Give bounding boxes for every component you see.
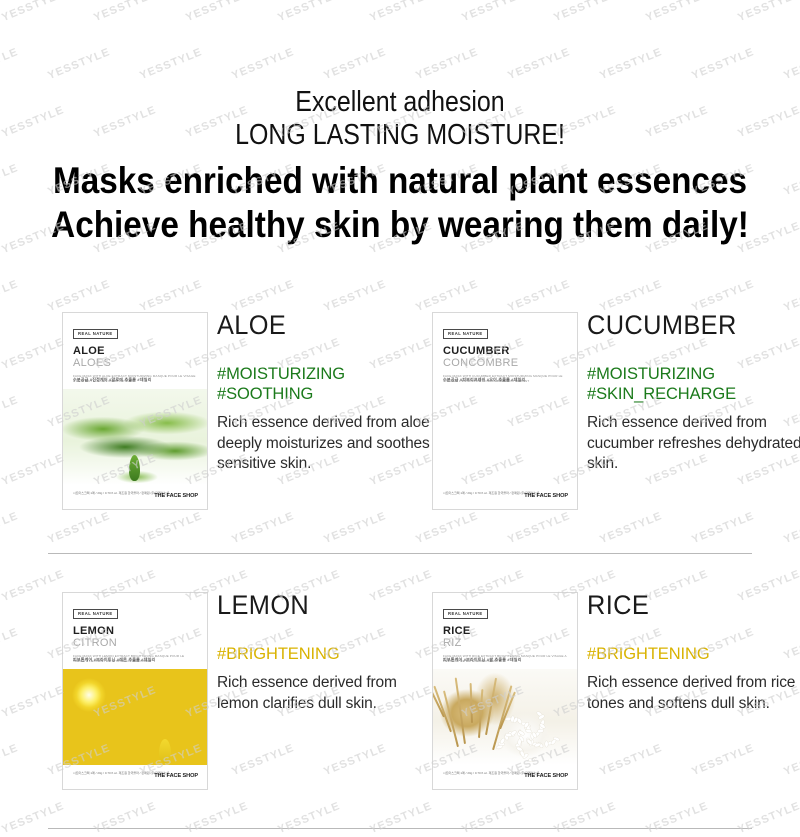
product-description: Rich essence derived from aloe deeply mo… bbox=[217, 413, 432, 475]
header-line-3: Masks enriched with natural plant essenc… bbox=[40, 159, 760, 203]
product-card-rice: REAL NATURE RICE RIZ FACE MASK WITH RICE… bbox=[432, 592, 800, 797]
watermark-text: YESSTYLE bbox=[552, 0, 618, 24]
rice-grain-shape bbox=[529, 758, 535, 761]
package-name-fr: RIZ bbox=[443, 638, 567, 650]
package-name-fr: CONCOMBRE bbox=[443, 358, 567, 370]
package-photo-cucumber bbox=[433, 389, 577, 485]
watermark-text: YESSTYLE bbox=[230, 46, 296, 82]
product-description: Rich essence derived from lemon clarifie… bbox=[217, 673, 432, 714]
product-tag: #SKIN_RECHARGE bbox=[587, 384, 800, 404]
watermark-text: YESSTYLE bbox=[414, 278, 480, 314]
rice-grain-shape bbox=[538, 729, 544, 732]
product-card-lemon: REAL NATURE LEMON CITRON FACE MASK WITH … bbox=[62, 592, 432, 797]
watermark-text: YESSTYLE bbox=[0, 0, 66, 24]
watermark-text: YESSTYLE bbox=[92, 800, 158, 836]
the-face-shop-logo: THE FACE SHOP bbox=[154, 493, 198, 499]
watermark-text: YESSTYLE bbox=[184, 800, 250, 836]
watermark-text: YESSTYLE bbox=[644, 800, 710, 836]
watermark-text: YESSTYLE bbox=[736, 800, 800, 836]
product-title: RICE bbox=[587, 592, 789, 619]
product-title: LEMON bbox=[217, 592, 419, 619]
product-package-lemon: REAL NATURE LEMON CITRON FACE MASK WITH … bbox=[62, 592, 208, 790]
package-name: CUCUMBER bbox=[443, 346, 567, 358]
watermark-text: YESSTYLE bbox=[506, 46, 572, 82]
section-divider bbox=[48, 553, 752, 554]
watermark-text: YESSTYLE bbox=[276, 800, 342, 836]
package-name-fr: CITRON bbox=[73, 638, 197, 650]
watermark-text: YESSTYLE bbox=[598, 278, 664, 314]
product-tag: #BRIGHTENING bbox=[587, 644, 800, 664]
product-info-aloe: ALOE #MOISTURIZING #SOOTHING Rich essenc… bbox=[217, 312, 432, 475]
watermark-text: YESSTYLE bbox=[0, 626, 20, 662]
package-name: ALOE bbox=[73, 346, 197, 358]
product-description: Rich essence derived from cucumber refre… bbox=[587, 413, 800, 475]
rice-grain-shape bbox=[517, 717, 523, 724]
package-korean-tags: 피부톤케어 #브라이트닝 #쌀 추출물 #데일리 bbox=[443, 657, 521, 663]
rice-stalk-shape bbox=[485, 678, 497, 735]
product-tag: #MOISTURIZING bbox=[217, 364, 432, 384]
package-korean-tags: 수분공급 #진정케어 #알로에 추출물 #데일리 bbox=[73, 377, 151, 383]
watermark-text: YESSTYLE bbox=[506, 278, 572, 314]
watermark-text: YESSTYLE bbox=[368, 800, 434, 836]
real-nature-badge: REAL NATURE bbox=[73, 329, 118, 339]
watermark-text: YESSTYLE bbox=[0, 46, 20, 82]
package-photo-lemon bbox=[63, 669, 207, 765]
lemon-drip-shape bbox=[159, 739, 171, 763]
product-title: CUCUMBER bbox=[587, 312, 789, 339]
watermark-text: YESSTYLE bbox=[0, 278, 20, 314]
real-nature-badge: REAL NATURE bbox=[443, 609, 488, 619]
product-tags: #BRIGHTENING bbox=[587, 644, 800, 664]
watermark-text: YESSTYLE bbox=[644, 0, 710, 24]
watermark-text: YESSTYLE bbox=[230, 278, 296, 314]
product-card-aloe: REAL NATURE ALOE ALOES FACE MASK WITH AL… bbox=[62, 312, 432, 517]
header-line-4: Achieve healthy skin by wearing them dai… bbox=[40, 203, 760, 247]
watermark-text: YESSTYLE bbox=[690, 46, 756, 82]
package-footer: 시트마스크팩 1매 / 20g / 0.70 fl.oz. 제조원 한국콜마 /… bbox=[433, 483, 577, 509]
product-tags: #MOISTURIZING #SKIN_RECHARGE bbox=[587, 364, 800, 404]
header-line-2: LONG LASTING MOISTURE! bbox=[56, 119, 744, 151]
package-photo-rice bbox=[433, 669, 577, 765]
watermark-text: YESSTYLE bbox=[368, 0, 434, 24]
product-package-cucumber: REAL NATURE CUCUMBER CONCOMBRE FACE MASK… bbox=[432, 312, 578, 510]
product-tag: #SOOTHING bbox=[217, 384, 432, 404]
product-package-rice: REAL NATURE RICE RIZ FACE MASK WITH RICE… bbox=[432, 592, 578, 790]
product-tags: #MOISTURIZING #SOOTHING bbox=[217, 364, 432, 404]
product-package-aloe: REAL NATURE ALOE ALOES FACE MASK WITH AL… bbox=[62, 312, 208, 510]
watermark-text: YESSTYLE bbox=[0, 510, 20, 546]
package-name-fr: ALOES bbox=[73, 358, 197, 370]
package-photo-aloe bbox=[63, 389, 207, 485]
product-info-cucumber: CUCUMBER #MOISTURIZING #SKIN_RECHARGE Ri… bbox=[587, 312, 800, 475]
the-face-shop-logo: THE FACE SHOP bbox=[524, 493, 568, 499]
rice-grain-shape bbox=[550, 738, 556, 744]
package-footer: 시트마스크팩 1매 / 20g / 0.70 fl.oz. 제조원 한국콜마 /… bbox=[63, 763, 207, 789]
package-footer: 시트마스크팩 1매 / 20g / 0.70 fl.oz. 제조원 한국콜마 /… bbox=[433, 763, 577, 789]
package-korean-tags: 피부톤케어 #브라이트닝 #레몬 추출물 #데일리 bbox=[73, 657, 155, 663]
product-info-rice: RICE #BRIGHTENING Rich essence derived f… bbox=[587, 592, 800, 714]
watermark-text: YESSTYLE bbox=[690, 278, 756, 314]
watermark-text: YESSTYLE bbox=[322, 278, 388, 314]
aloe-drip-shape bbox=[129, 455, 140, 481]
package-footer: 시트마스크팩 1매 / 20g / 0.70 fl.oz. 제조원 한국콜마 /… bbox=[63, 483, 207, 509]
watermark-text: YESSTYLE bbox=[0, 394, 20, 430]
bottom-divider bbox=[48, 828, 752, 829]
watermark-text: YESSTYLE bbox=[46, 278, 112, 314]
watermark-text: YESSTYLE bbox=[0, 684, 66, 720]
product-tag: #MOISTURIZING bbox=[587, 364, 800, 384]
product-info-lemon: LEMON #BRIGHTENING Rich essence derived … bbox=[217, 592, 432, 714]
watermark-text: YESSTYLE bbox=[0, 742, 20, 778]
rice-stalk-shape bbox=[478, 689, 483, 738]
rice-grain-shape bbox=[534, 743, 541, 748]
product-tags: #BRIGHTENING bbox=[217, 644, 432, 664]
rice-grain-shape bbox=[520, 751, 525, 758]
product-tag: #BRIGHTENING bbox=[217, 644, 432, 664]
product-title: ALOE bbox=[217, 312, 419, 339]
header-line-1: Excellent adhesion bbox=[56, 86, 744, 118]
watermark-text: YESSTYLE bbox=[414, 46, 480, 82]
rice-grain-shape bbox=[505, 733, 511, 737]
watermark-text: YESSTYLE bbox=[0, 800, 66, 836]
watermark-text: YESSTYLE bbox=[782, 46, 800, 82]
watermark-text: YESSTYLE bbox=[46, 46, 112, 82]
the-face-shop-logo: THE FACE SHOP bbox=[524, 773, 568, 779]
rice-stalk-shape bbox=[470, 683, 473, 723]
watermark-text: YESSTYLE bbox=[276, 0, 342, 24]
product-card-cucumber: REAL NATURE CUCUMBER CONCOMBRE FACE MASK… bbox=[432, 312, 800, 517]
watermark-text: YESSTYLE bbox=[0, 336, 66, 372]
watermark-text: YESSTYLE bbox=[184, 0, 250, 24]
watermark-text: YESSTYLE bbox=[736, 0, 800, 24]
real-nature-badge: REAL NATURE bbox=[73, 609, 118, 619]
product-description: Rich essence derived from rice tones and… bbox=[587, 673, 800, 714]
rice-grain-shape bbox=[545, 741, 548, 747]
real-nature-badge: REAL NATURE bbox=[443, 329, 488, 339]
watermark-text: YESSTYLE bbox=[138, 278, 204, 314]
watermark-text: YESSTYLE bbox=[0, 568, 66, 604]
rice-stalk-shape bbox=[455, 678, 466, 745]
watermark-text: YESSTYLE bbox=[782, 278, 800, 314]
header-banner: Excellent adhesion LONG LASTING MOISTURE… bbox=[0, 86, 800, 246]
watermark-text: YESSTYLE bbox=[138, 46, 204, 82]
watermark-text: YESSTYLE bbox=[460, 800, 526, 836]
watermark-text: YESSTYLE bbox=[460, 0, 526, 24]
watermark-text: YESSTYLE bbox=[598, 46, 664, 82]
watermark-text: YESSTYLE bbox=[92, 0, 158, 24]
watermark-text: YESSTYLE bbox=[0, 452, 66, 488]
package-korean-tags: 수분공급 #피부리프레쉬 #오이 추출물 #데일리 bbox=[443, 377, 525, 383]
the-face-shop-logo: THE FACE SHOP bbox=[154, 773, 198, 779]
package-name: RICE bbox=[443, 626, 567, 638]
package-name: LEMON bbox=[73, 626, 197, 638]
rice-grain-shape bbox=[497, 745, 504, 750]
watermark-text: YESSTYLE bbox=[322, 46, 388, 82]
watermark-text: YESSTYLE bbox=[552, 800, 618, 836]
